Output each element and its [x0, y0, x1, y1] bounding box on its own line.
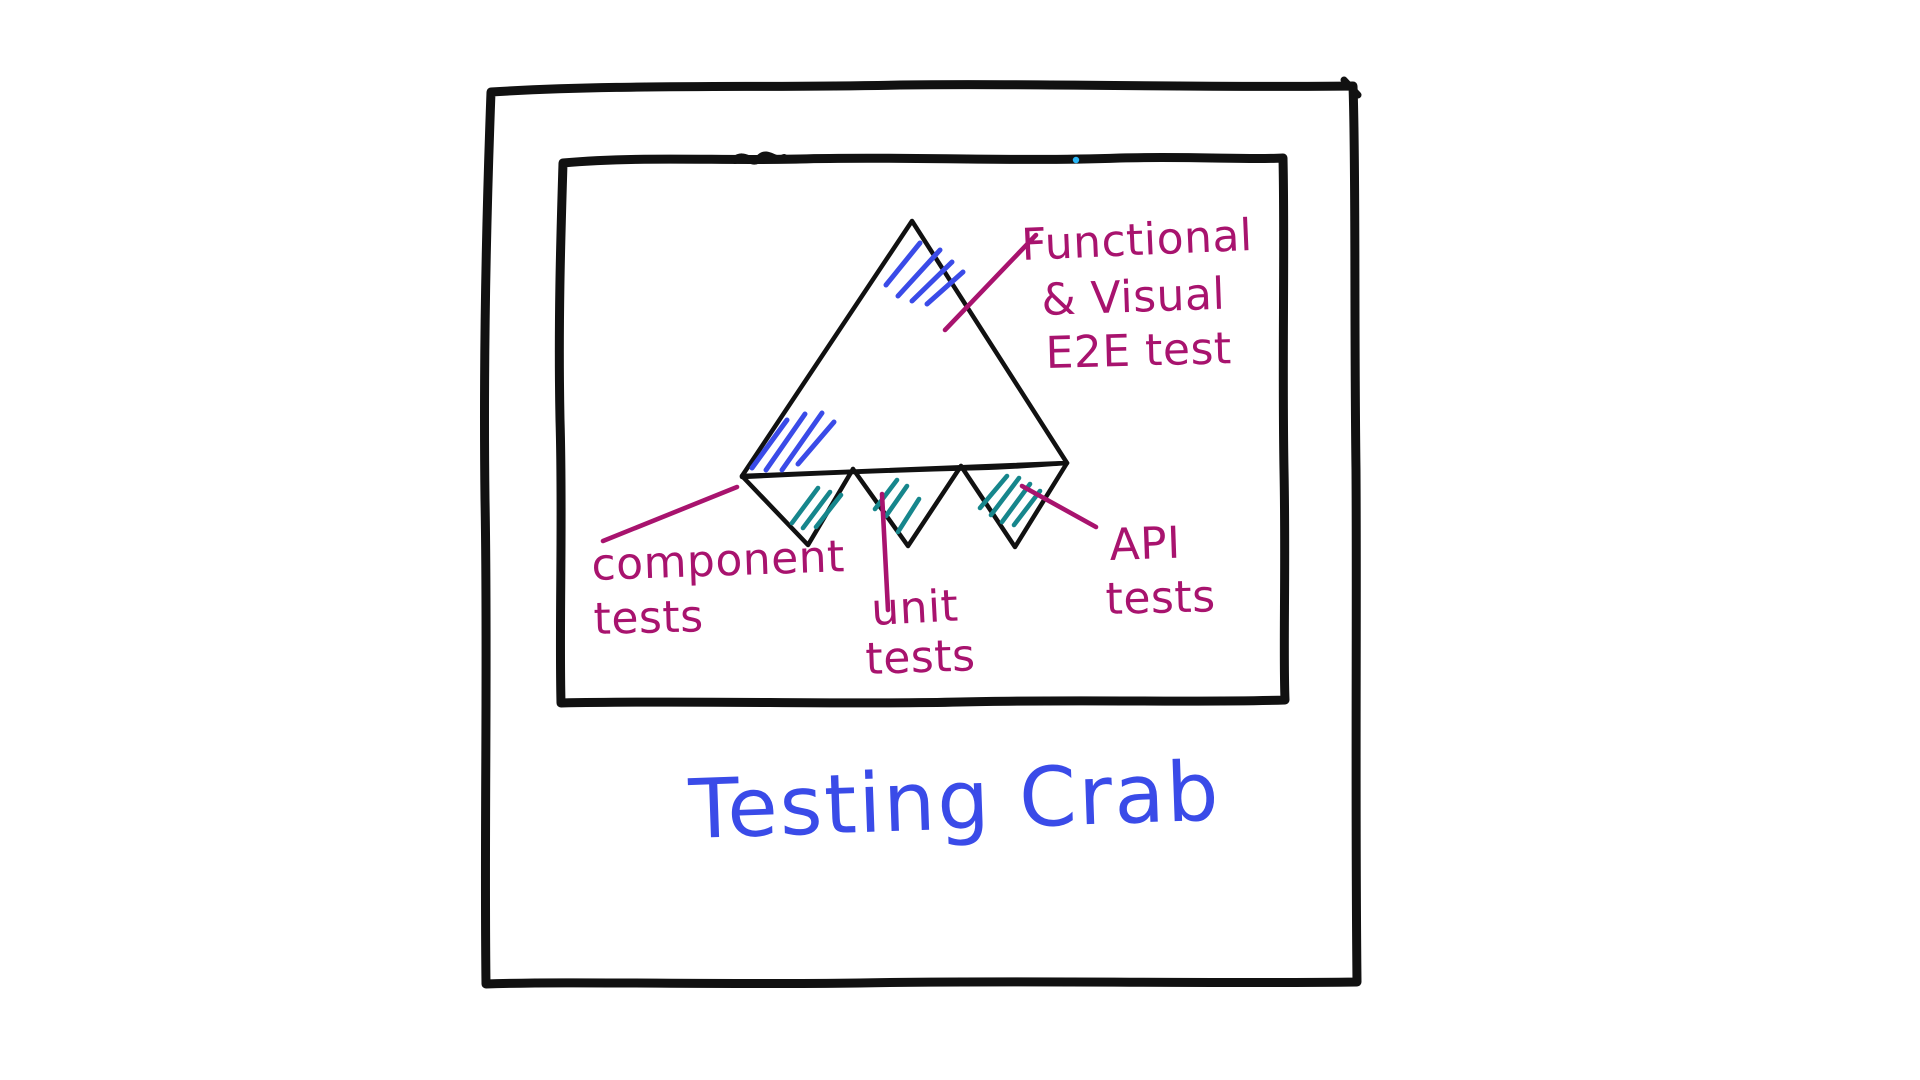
sketch-canvas: .ink { fill: none; stroke: #111111; stro…: [0, 0, 1920, 1080]
leader-line-component: [603, 487, 737, 541]
annotation-api-line-2: tests: [1105, 571, 1216, 625]
annotation-component-line-1: component: [591, 531, 846, 591]
leg-middle: [853, 466, 961, 546]
stray-ink-dot: [1073, 157, 1079, 163]
annotation-unit-line-1: unit: [870, 580, 960, 635]
annotation-e2e-line-3: E2E test: [1045, 323, 1232, 379]
triangle-base-line: [742, 463, 1067, 477]
annotation-e2e-line-2: & Visual: [1041, 269, 1226, 326]
annotation-e2e: Functional & Visual E2E test: [1020, 210, 1253, 379]
testing-crab-shape: [742, 221, 1067, 547]
page-title: Testing Crab: [686, 744, 1222, 858]
annotation-e2e-line-1: Functional: [1020, 210, 1253, 271]
hatch-group-apex: [886, 243, 963, 304]
annotation-unit-line-2: tests: [865, 630, 977, 685]
hatch-group-leg-left: [792, 488, 841, 528]
annotation-component: component tests: [591, 531, 846, 645]
annotation-api: API tests: [1105, 518, 1216, 625]
annotation-unit: unit tests: [865, 580, 977, 685]
annotation-api-line-1: API: [1109, 518, 1182, 571]
annotation-component-line-2: tests: [593, 591, 704, 645]
whiteboard-drawing: .ink { fill: none; stroke: #111111; stro…: [0, 0, 1920, 1080]
